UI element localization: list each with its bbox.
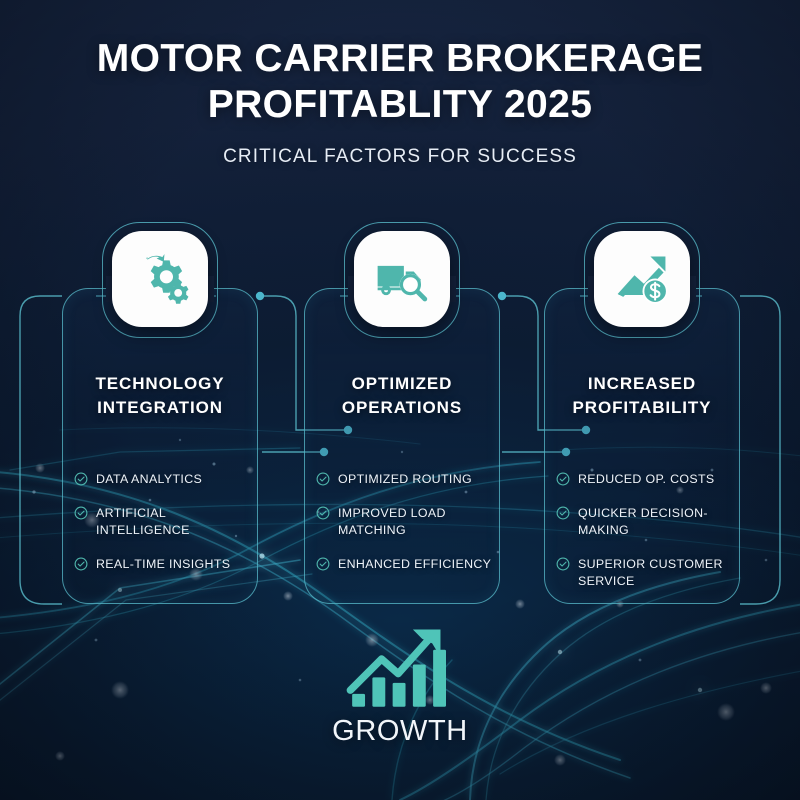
list-item-label: SUPERIOR CUSTOMER SERVICE <box>578 556 744 591</box>
check-circle-icon <box>316 557 330 571</box>
card-title: TECHNOLOGY INTEGRATION <box>62 372 258 420</box>
list-item-label: REAL-TIME INSIGHTS <box>96 556 230 574</box>
gears-icon <box>112 231 208 327</box>
card-title-line-1: OPTIMIZED <box>304 372 500 396</box>
infographic-poster: MOTOR CARRIER BROKERAGE PROFITABLITY 202… <box>0 0 800 800</box>
list-item: DATA ANALYTICS <box>74 471 262 489</box>
list-item-label: ENHANCED EFFICIENCY <box>338 556 491 574</box>
card-title-line-2: OPERATIONS <box>304 396 500 420</box>
card-title-line-1: INCREASED <box>544 372 740 396</box>
growth-bar-chart-arrow-icon <box>344 624 456 716</box>
card-bullet-list: OPTIMIZED ROUTING IMPROVED LOAD MATCHING… <box>316 471 504 589</box>
list-item: REDUCED OP. COSTS <box>556 471 744 489</box>
title-line-1: MOTOR CARRIER BROKERAGE <box>97 37 704 80</box>
page-subtitle: CRITICAL FACTORS FOR SUCCESS <box>0 146 800 168</box>
list-item-label: REDUCED OP. COSTS <box>578 471 715 489</box>
check-circle-icon <box>316 506 330 520</box>
list-item-label: QUICKER DECISION-MAKING <box>578 505 744 540</box>
check-circle-icon <box>556 557 570 571</box>
check-circle-icon <box>556 506 570 520</box>
poster-header: MOTOR CARRIER BROKERAGE PROFITABLITY 202… <box>0 36 800 168</box>
growth-logo: GROWTH <box>0 624 800 748</box>
card-bullet-list: DATA ANALYTICS ARTIFICIAL INTELLIGENCE R… <box>74 471 262 589</box>
check-circle-icon <box>316 472 330 486</box>
card-title-line-1: TECHNOLOGY <box>62 372 258 396</box>
list-item: IMPROVED LOAD MATCHING <box>316 505 504 540</box>
title-line-2: PROFITABLITY 2025 <box>0 82 800 128</box>
growth-logo-label: GROWTH <box>0 715 800 748</box>
list-item: ENHANCED EFFICIENCY <box>316 556 504 574</box>
list-item-label: DATA ANALYTICS <box>96 471 202 489</box>
card-title: OPTIMIZED OPERATIONS <box>304 372 500 420</box>
card-title: INCREASED PROFITABILITY <box>544 372 740 420</box>
list-item-label: OPTIMIZED ROUTING <box>338 471 472 489</box>
page-title: MOTOR CARRIER BROKERAGE PROFITABLITY 202… <box>0 36 800 128</box>
truck-search-icon <box>354 231 450 327</box>
factor-card-technology-integration[interactable]: TECHNOLOGY INTEGRATION DATA ANALYTICS AR… <box>62 288 258 604</box>
list-item: SUPERIOR CUSTOMER SERVICE <box>556 556 744 591</box>
factor-card-increased-profitability[interactable]: INCREASED PROFITABILITY REDUCED OP. COST… <box>544 288 740 604</box>
card-bullet-list: REDUCED OP. COSTS QUICKER DECISION-MAKIN… <box>556 471 744 607</box>
list-item: ARTIFICIAL INTELLIGENCE <box>74 505 262 540</box>
factor-card-optimized-operations[interactable]: OPTIMIZED OPERATIONS OPTIMIZED ROUTING I… <box>304 288 500 604</box>
list-item: REAL-TIME INSIGHTS <box>74 556 262 574</box>
growth-dollar-icon-glyph <box>612 249 672 309</box>
check-circle-icon <box>74 472 88 486</box>
list-item: QUICKER DECISION-MAKING <box>556 505 744 540</box>
card-title-line-2: INTEGRATION <box>62 396 258 420</box>
growth-dollar-icon <box>594 231 690 327</box>
check-circle-icon <box>556 472 570 486</box>
gears-icon-glyph <box>130 249 190 309</box>
check-circle-icon <box>74 506 88 520</box>
truck-search-icon-glyph <box>372 249 432 309</box>
card-title-line-2: PROFITABILITY <box>544 396 740 420</box>
list-item-label: ARTIFICIAL INTELLIGENCE <box>96 505 262 540</box>
list-item: OPTIMIZED ROUTING <box>316 471 504 489</box>
list-item-label: IMPROVED LOAD MATCHING <box>338 505 504 540</box>
check-circle-icon <box>74 557 88 571</box>
